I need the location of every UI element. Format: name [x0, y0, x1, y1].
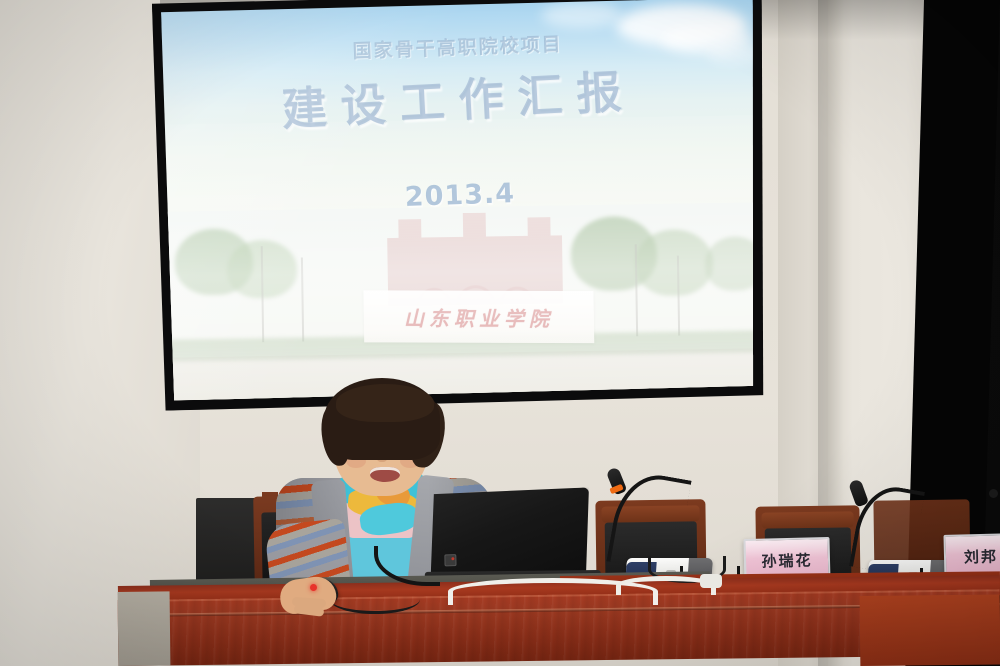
chair-top-rail	[761, 511, 853, 528]
tree-icon	[705, 236, 759, 291]
mouse-cable	[330, 585, 420, 614]
projection-screen: 山东职业学院 国家骨干高职院校项目 建设工作汇报 2013.4	[152, 0, 768, 411]
laptop-logo-icon	[444, 554, 456, 566]
laptop-logo-dot-icon	[451, 557, 454, 560]
wall-fixture	[989, 489, 998, 498]
mouse-led-icon	[310, 584, 317, 591]
photo-scene: 山东职业学院 国家骨干高职院校项目 建设工作汇报 2013.4	[0, 0, 1000, 666]
hair-fringe	[336, 384, 434, 422]
desk-left-side-panel	[118, 591, 171, 666]
tree-icon	[634, 229, 713, 296]
campus-photo: 山东职业学院	[164, 202, 759, 400]
screen-surface: 山东职业学院 国家骨干高职院校项目 建设工作汇报 2013.4	[161, 0, 759, 401]
name-plate-left-text: 孙瑞花	[761, 549, 813, 571]
campus-name-stone: 山东职业学院	[363, 290, 594, 343]
mouth	[370, 467, 400, 482]
campus-stone-text: 山东职业学院	[364, 302, 594, 332]
desk-right-step	[860, 595, 1000, 666]
name-plate-right-text: 刘邦	[964, 545, 999, 567]
cloud-icon	[541, 1, 621, 28]
cable-plug	[700, 574, 722, 588]
